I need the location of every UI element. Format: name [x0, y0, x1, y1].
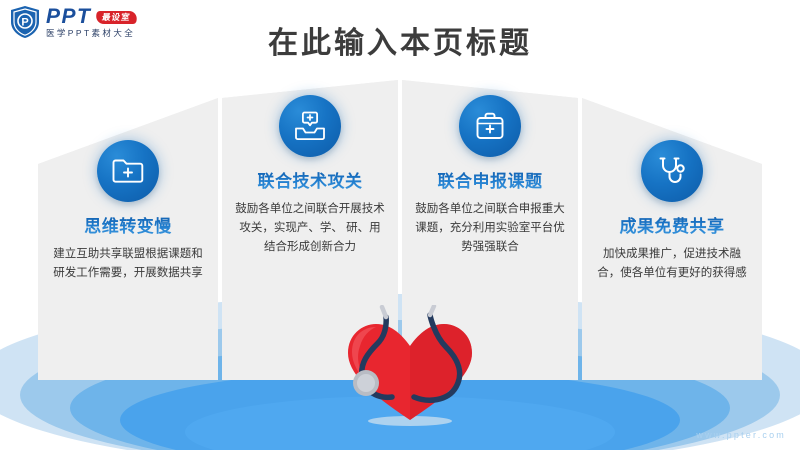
brand-logo[interactable]: P PPT 最设室 医学PPT素材大全 [10, 5, 137, 39]
feature-card-body: 鼓励各单位之间联合开展技术攻关，实现产、学、 研、用结合形成创新合力 [222, 200, 398, 257]
medical-inbox-icon [279, 95, 341, 157]
heart-stethoscope-illustration [330, 305, 490, 430]
medical-briefcase-icon [459, 95, 521, 157]
feature-card-4[interactable]: 成果免费共享 加快成果推广，促进技术融合，使各单位有更好的获得感 [584, 140, 760, 283]
feature-card-2[interactable]: 联合技术攻关 鼓励各单位之间联合开展技术攻关，实现产、学、 研、用结合形成创新合… [222, 95, 398, 257]
logo-badge: 最设室 [95, 11, 137, 24]
feature-card-body: 加快成果推广，促进技术融合，使各单位有更好的获得感 [584, 245, 760, 283]
feature-card-body: 建立互助共享联盟根据课题和研发工作需要，开展数据共享 [40, 245, 216, 283]
shield-p-icon: P [10, 5, 40, 39]
logo-brand-text: PPT [46, 6, 91, 27]
feature-card-title: 联合申报课题 [402, 167, 578, 192]
stethoscope-icon [641, 140, 703, 202]
site-watermark: www.ppter.com [696, 430, 786, 440]
feature-card-1[interactable]: 思维转变慢 建立互助共享联盟根据课题和研发工作需要，开展数据共享 [40, 140, 216, 283]
feature-card-title: 成果免费共享 [584, 212, 760, 237]
feature-card-body: 鼓励各单位之间联合申报重大课题，充分利用实验室平台优势强强联合 [402, 200, 578, 257]
feature-card-title: 联合技术攻关 [222, 167, 398, 192]
folder-plus-icon [97, 140, 159, 202]
logo-subtitle: 医学PPT素材大全 [46, 29, 137, 38]
feature-card-3[interactable]: 联合申报课题 鼓励各单位之间联合申报重大课题，充分利用实验室平台优势强强联合 [402, 95, 578, 257]
svg-text:P: P [21, 17, 28, 29]
feature-card-title: 思维转变慢 [40, 212, 216, 237]
